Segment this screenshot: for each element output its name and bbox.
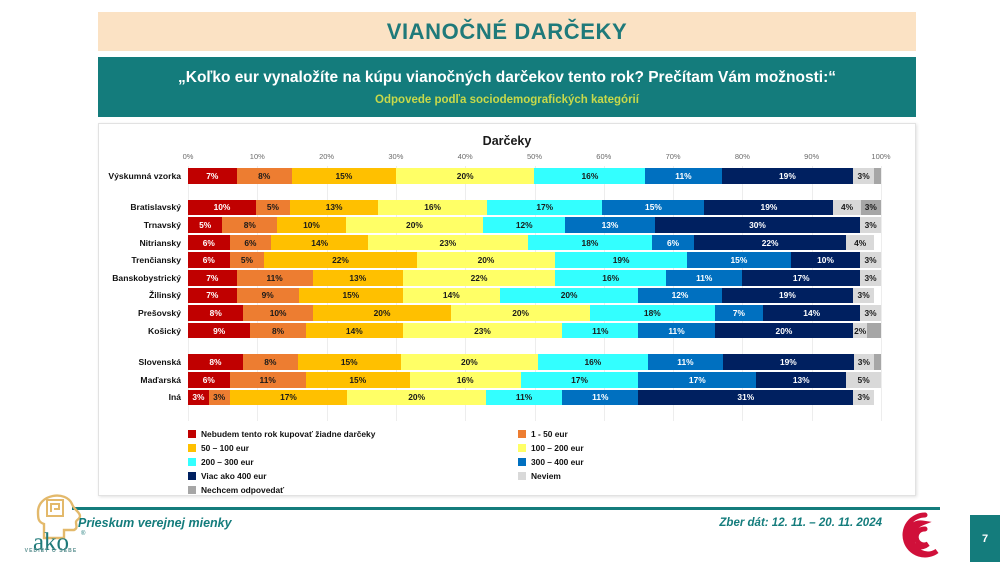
bar-segment: 11% — [648, 354, 723, 370]
chart-bar-row: Iná3%3%17%20%11%11%31%3% — [188, 390, 881, 406]
bar-segment: 15% — [292, 168, 396, 184]
bar-segment: 19% — [723, 354, 853, 370]
bar-segment: 3% — [188, 390, 209, 406]
bar-segment: 13% — [756, 372, 846, 388]
y-axis-category-label: Bratislavský — [130, 202, 188, 212]
bar-segment: 17% — [742, 270, 860, 286]
legend-item: Nechcem odpovedať — [188, 483, 518, 497]
question-text: „Koľko eur vynaložíte na kúpu vianočných… — [178, 69, 836, 87]
bar-segment: 20% — [347, 390, 486, 406]
bar-segment: 7% — [188, 288, 237, 304]
bar-segment: 4% — [833, 200, 860, 216]
x-axis-tick: 10% — [250, 152, 265, 161]
bar-segment: 5% — [230, 252, 265, 268]
y-axis-category-label: Banskobystrický — [112, 273, 188, 283]
legend-label: 50 – 100 eur — [201, 443, 249, 453]
bar-segment: 6% — [188, 235, 230, 251]
page-title: VIANOČNÉ DARČEKY — [387, 19, 628, 45]
bar-segment: 15% — [602, 200, 704, 216]
bar-segment: 7% — [188, 168, 237, 184]
bar-segment: 11% — [562, 323, 638, 339]
bar-segment: 7% — [715, 305, 764, 321]
bar-segment: 8% — [250, 323, 305, 339]
bar-segment: 5% — [846, 372, 881, 388]
bar-segment: 3% — [860, 217, 881, 233]
bar-segment: 12% — [483, 217, 565, 233]
legend-label: 100 – 200 eur — [531, 443, 584, 453]
slide-root: VIANOČNÉ DARČEKY „Koľko eur vynaložíte n… — [0, 0, 1000, 562]
bar-segment: 9% — [188, 323, 250, 339]
chart-plot-area: Výskumná vzorka7%8%15%20%16%11%19%3%Brat… — [188, 166, 881, 421]
bar-segment: 8% — [243, 354, 298, 370]
bar-segment: 14% — [403, 288, 500, 304]
chart-title: Darčeky — [99, 134, 915, 148]
chart-bar-row: Nitriansky6%6%14%23%18%6%22%4% — [188, 235, 881, 251]
bar-segment: 3% — [853, 390, 874, 406]
bar-segment: 15% — [299, 288, 403, 304]
chart-bar-row: Žilinský7%9%15%14%20%12%19%3% — [188, 288, 881, 304]
legend-label: Neviem — [531, 471, 561, 481]
x-axis-ticks: 0%10%20%30%40%50%60%70%80%90%100% — [99, 152, 915, 166]
legend-item: Neviem — [518, 469, 848, 483]
legend-label: Nechcem odpovedať — [201, 485, 284, 495]
bar-segment: 30% — [655, 217, 861, 233]
bar-segment: 19% — [704, 200, 833, 216]
bar-segment: 6% — [188, 372, 230, 388]
x-axis-tick: 90% — [804, 152, 819, 161]
bar-segment: 3% — [853, 288, 874, 304]
bar-segment — [867, 323, 881, 339]
legend-swatch-icon — [518, 430, 526, 438]
bar-segment: 20% — [500, 288, 639, 304]
x-axis-tick: 40% — [458, 152, 473, 161]
chart-bar-row: Maďarská6%11%15%16%17%17%13%5% — [188, 372, 881, 388]
y-axis-category-label: Nitriansky — [139, 238, 188, 248]
bar-segment: 15% — [687, 252, 791, 268]
bar-segment: 11% — [562, 390, 638, 406]
bar-segment: 22% — [403, 270, 555, 286]
bar-segment: 10% — [277, 217, 346, 233]
bar-segment: 20% — [313, 305, 452, 321]
y-axis-category-label: Výskumná vzorka — [108, 171, 188, 181]
legend-swatch-icon — [188, 444, 196, 452]
y-axis-category-label: Košický — [148, 326, 188, 336]
legend-item: 300 – 400 eur — [518, 455, 848, 469]
bar-segment: 20% — [346, 217, 483, 233]
bar-segment: 3% — [853, 168, 874, 184]
x-axis-tick: 80% — [735, 152, 750, 161]
bar-segment: 6% — [230, 235, 272, 251]
y-axis-category-label: Žilinský — [149, 290, 188, 300]
legend-label: Viac ako 400 eur — [201, 471, 267, 481]
bar-segment: 23% — [368, 235, 527, 251]
swirl-logo-icon — [902, 512, 948, 558]
bar-segment: 13% — [565, 217, 654, 233]
chart-bar-row: Košický9%8%14%23%11%11%20%2% — [188, 323, 881, 339]
bar-segment: 16% — [410, 372, 521, 388]
bar-segment: 10% — [791, 252, 860, 268]
x-axis-tick: 30% — [388, 152, 403, 161]
bar-segment: 5% — [188, 217, 222, 233]
bar-segment: 19% — [722, 168, 854, 184]
bar-segment: 11% — [230, 372, 306, 388]
legend-item: Viac ako 400 eur — [188, 469, 518, 483]
bar-segment: 7% — [188, 270, 237, 286]
y-axis-category-label: Iná — [169, 392, 188, 402]
bar-segment: 31% — [638, 390, 853, 406]
bar-segment: 11% — [638, 323, 714, 339]
bar-segment: 11% — [237, 270, 313, 286]
chart-bar-row: Banskobystrický7%11%13%22%16%11%17%3% — [188, 270, 881, 286]
question-banner: „Koľko eur vynaložíte na kúpu vianočných… — [98, 57, 916, 117]
bar-segment: 8% — [188, 354, 243, 370]
legend-swatch-icon — [188, 486, 196, 494]
bar-segment: 17% — [638, 372, 756, 388]
footer-right-text: Zber dát: 12. 11. – 20. 11. 2024 — [719, 517, 882, 529]
bar-segment: 20% — [396, 168, 535, 184]
chart-bar-row: Výskumná vzorka7%8%15%20%16%11%19%3% — [188, 168, 881, 184]
legend-label: 300 – 400 eur — [531, 457, 584, 467]
footer-left-text: Prieskum verejnej mienky — [78, 516, 232, 530]
chart-bar-row: Slovenská8%8%15%20%16%11%19%3% — [188, 354, 881, 370]
y-axis-category-label: Trenčiansky — [131, 255, 188, 265]
bar-segment: 13% — [313, 270, 403, 286]
legend-item: 50 – 100 eur — [188, 441, 518, 455]
svg-text:®: ® — [81, 530, 86, 537]
bar-segment: 15% — [298, 354, 401, 370]
bar-segment: 13% — [290, 200, 378, 216]
bar-segment: 9% — [237, 288, 299, 304]
bar-segment: 14% — [763, 305, 860, 321]
bar-segment: 3% — [860, 252, 881, 268]
bar-segment: 22% — [264, 252, 416, 268]
x-axis-tick: 50% — [527, 152, 542, 161]
y-axis-category-label: Prešovský — [138, 308, 188, 318]
bar-segment: 22% — [694, 235, 846, 251]
bar-segment: 6% — [652, 235, 694, 251]
legend-swatch-icon — [188, 472, 196, 480]
bar-segment: 17% — [521, 372, 639, 388]
chart-bar-row: Bratislavský10%5%13%16%17%15%19%4%3% — [188, 200, 881, 216]
y-axis-category-label: Slovenská — [138, 357, 188, 367]
bar-segment: 16% — [538, 354, 648, 370]
bar-segment — [874, 168, 881, 184]
bar-segment: 16% — [555, 270, 666, 286]
chart-bar-row: Trenčiansky6%5%22%20%19%15%10%3% — [188, 252, 881, 268]
bar-segment: 18% — [528, 235, 653, 251]
legend-swatch-icon — [518, 458, 526, 466]
legend-item: 200 – 300 eur — [188, 455, 518, 469]
bar-segment: 23% — [403, 323, 562, 339]
bar-segment: 17% — [487, 200, 603, 216]
bar-segment: 3% — [861, 200, 881, 216]
legend-label: 1 - 50 eur — [531, 429, 568, 439]
page-number-badge: 7 — [970, 515, 1000, 562]
x-axis-tick: 70% — [666, 152, 681, 161]
bar-segment: 10% — [243, 305, 312, 321]
legend-swatch-icon — [518, 472, 526, 480]
legend-label: 200 – 300 eur — [201, 457, 254, 467]
bar-segment: 3% — [854, 354, 875, 370]
bar-segment: 18% — [590, 305, 715, 321]
chart-bar-row: Prešovský8%10%20%20%18%7%14%3% — [188, 305, 881, 321]
slide-title-banner: VIANOČNÉ DARČEKY — [98, 12, 916, 51]
bar-segment: 8% — [237, 168, 292, 184]
bar-segment: 14% — [271, 235, 368, 251]
bar-segment: 17% — [230, 390, 348, 406]
legend-item: Nebudem tento rok kupovať žiadne darčeky — [188, 427, 518, 441]
x-axis-tick: 60% — [596, 152, 611, 161]
bar-segment: 11% — [645, 168, 721, 184]
bar-segment: 11% — [486, 390, 562, 406]
bar-segment: 20% — [417, 252, 556, 268]
y-axis-category-label: Trnavský — [144, 220, 188, 230]
x-axis-tick: 20% — [319, 152, 334, 161]
bar-segment: 5% — [256, 200, 290, 216]
bar-segment: 8% — [188, 305, 243, 321]
bar-segment: 11% — [666, 270, 742, 286]
gridline — [881, 166, 882, 421]
y-axis-category-label: Maďarská — [140, 375, 188, 385]
bar-segment: 3% — [860, 270, 881, 286]
bar-segment: 20% — [401, 354, 538, 370]
bar-segment: 12% — [638, 288, 721, 304]
x-axis-tick: 0% — [183, 152, 194, 161]
chart-bar-row: Trnavský5%8%10%20%12%13%30%3% — [188, 217, 881, 233]
bar-segment: 10% — [188, 200, 256, 216]
bar-segment: 20% — [451, 305, 590, 321]
question-subtitle: Odpovede podľa sociodemografických kateg… — [375, 94, 639, 106]
legend-item: 100 – 200 eur — [518, 441, 848, 455]
bar-segment: 19% — [555, 252, 687, 268]
legend-item: 1 - 50 eur — [518, 427, 848, 441]
chart-bar-rows: Výskumná vzorka7%8%15%20%16%11%19%3%Brat… — [188, 166, 881, 421]
bar-segment: 4% — [846, 235, 874, 251]
bar-segment: 20% — [715, 323, 854, 339]
page-number: 7 — [982, 533, 988, 545]
legend-label: Nebudem tento rok kupovať žiadne darčeky — [201, 429, 375, 439]
x-axis-tick: 100% — [871, 152, 890, 161]
logo-tagline: VEDIEŤ O SEBE — [8, 548, 94, 554]
bar-segment: 19% — [722, 288, 854, 304]
legend-swatch-icon — [188, 458, 196, 466]
bar-segment: 14% — [306, 323, 403, 339]
bar-segment: 6% — [188, 252, 230, 268]
bar-segment — [874, 354, 881, 370]
bar-segment: 16% — [534, 168, 645, 184]
footer-divider — [72, 507, 940, 510]
bar-segment: 15% — [306, 372, 410, 388]
bar-segment: 2% — [853, 323, 867, 339]
legend-swatch-icon — [188, 430, 196, 438]
bar-segment: 8% — [222, 217, 277, 233]
bar-segment: 3% — [209, 390, 230, 406]
bar-segment: 3% — [860, 305, 881, 321]
legend-swatch-icon — [518, 444, 526, 452]
bar-segment: 16% — [378, 200, 487, 216]
chart-card: Darčeky 0%10%20%30%40%50%60%70%80%90%100… — [98, 123, 916, 496]
chart-legend: Nebudem tento rok kupovať žiadne darčeky… — [188, 427, 848, 497]
